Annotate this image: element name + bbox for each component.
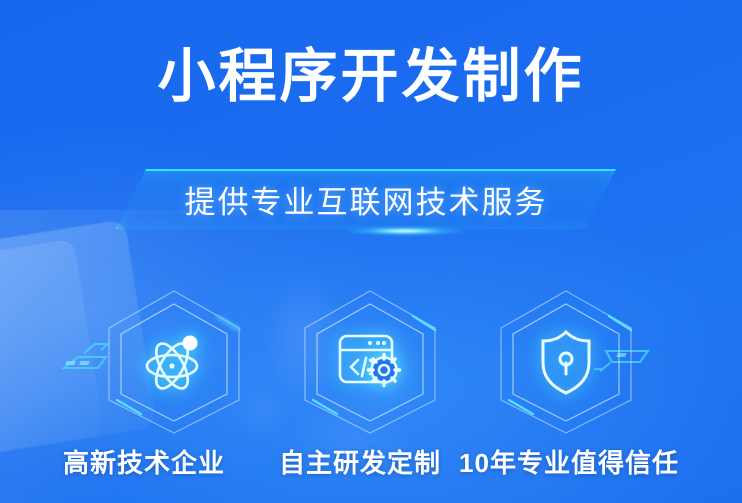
feature-row (0, 288, 742, 438)
feature-caption-0: 高新技术企业 (63, 443, 225, 480)
feature-item-atom (99, 288, 249, 436)
feature-caption-2: 10年专业值得信任 (459, 443, 679, 480)
page-title: 小程序开发制作 (0, 45, 742, 109)
atom-icon (99, 288, 249, 436)
feature-caption-1: 自主研发定制 (279, 443, 441, 480)
subtitle-text: 提供专业互联网技术服务 (116, 169, 616, 229)
feature-item-code-gear (295, 288, 445, 436)
shield-lock-icon (491, 288, 641, 436)
feature-caption-row: 高新技术企业 自主研发定制 10年专业值得信任 (0, 440, 742, 482)
feature-item-shield (491, 288, 641, 436)
cyan-light-flare-icon (340, 222, 470, 240)
promo-poster: 小程序开发制作 提供专业互联网技术服务 (0, 0, 742, 503)
code-gear-icon (295, 288, 445, 436)
